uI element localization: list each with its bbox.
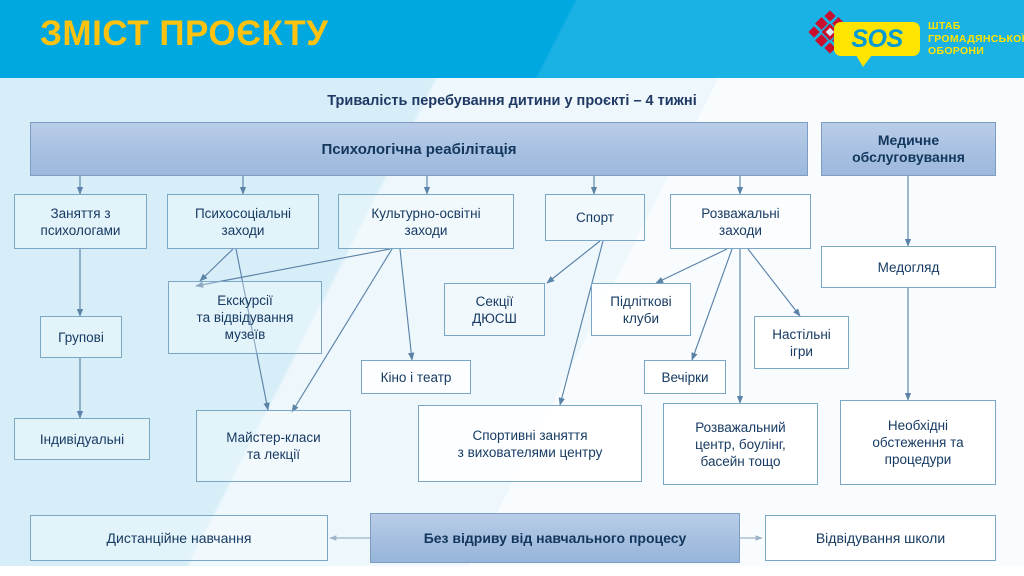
node-sport[interactable]: Спорт [545,194,645,241]
node-distance-learning[interactable]: Дистанційне навчання [30,515,328,561]
slide-canvas: ЗМІСТ ПРОЄКТУ SOS ШТАБ ГРОМАДЯНСЬКО [0,0,1024,576]
node-individual[interactable]: Індивідуальні [14,418,150,460]
node-cultural[interactable]: Культурно-освітнізаходи [338,194,514,249]
node-psychologist[interactable]: Заняття зпсихологами [14,194,147,249]
node-exams[interactable]: Необхідніобстеження тапроцедури [840,400,996,485]
node-ent-center[interactable]: Розважальнийцентр, боулінг,басейн тощо [663,403,818,485]
node-teen-clubs[interactable]: Підлітковіклуби [591,283,691,336]
node-excursions[interactable]: Екскурсіїта відвідуваннямузеїв [168,281,322,354]
node-psych-rehab[interactable]: Психологічна реабілітація [30,122,808,176]
node-board-games[interactable]: Настільніігри [754,316,849,369]
node-no-interruption[interactable]: Без відриву від навчального процесу [370,513,740,563]
node-entertainment[interactable]: Розважальнізаходи [670,194,811,249]
node-parties[interactable]: Вечірки [644,360,726,394]
node-sections[interactable]: СекціїДЮСШ [444,283,545,336]
node-group[interactable]: Групові [40,316,122,358]
node-medical-service[interactable]: Медичне обслуговування [821,122,996,176]
node-cinema-theatre[interactable]: Кіно і театр [361,360,471,394]
node-psychosocial[interactable]: Психосоціальнізаходи [167,194,319,249]
node-school-attendance[interactable]: Відвідування школи [765,515,996,561]
node-medical-checkup[interactable]: Медогляд [821,246,996,288]
node-masterclasses[interactable]: Майстер-класита лекції [196,410,351,482]
node-sport-sessions[interactable]: Спортивні заняттяз вихователями центру [418,405,642,482]
